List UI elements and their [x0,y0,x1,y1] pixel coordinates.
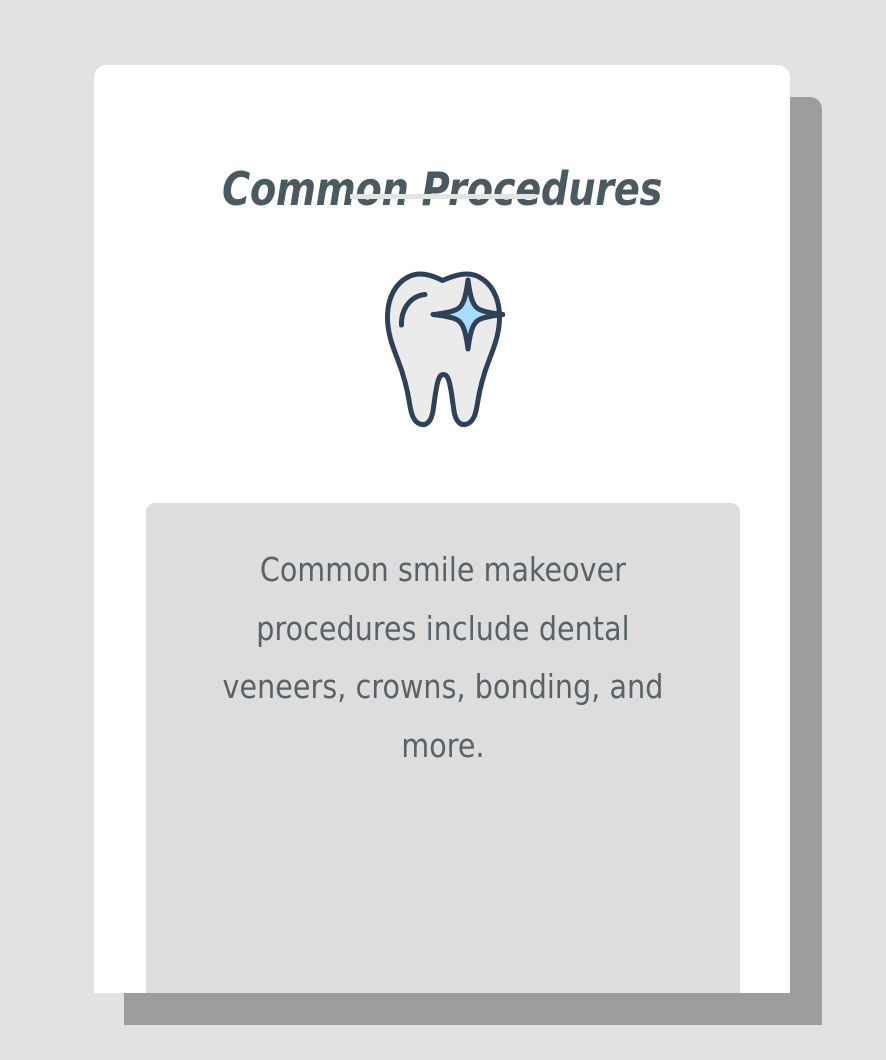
description-panel: Common smile makeover procedures include… [146,503,740,993]
tooth-outline [387,274,499,425]
slide-canvas: Common Procedures Common smile makeover … [0,0,886,1060]
title-divider [350,194,536,199]
card-title: Common Procedures [118,165,765,213]
common-procedures-card[interactable]: Common Procedures Common smile makeover … [94,65,790,993]
sparkling-tooth-icon [379,267,505,433]
description-text: Common smile makeover procedures include… [191,541,696,776]
